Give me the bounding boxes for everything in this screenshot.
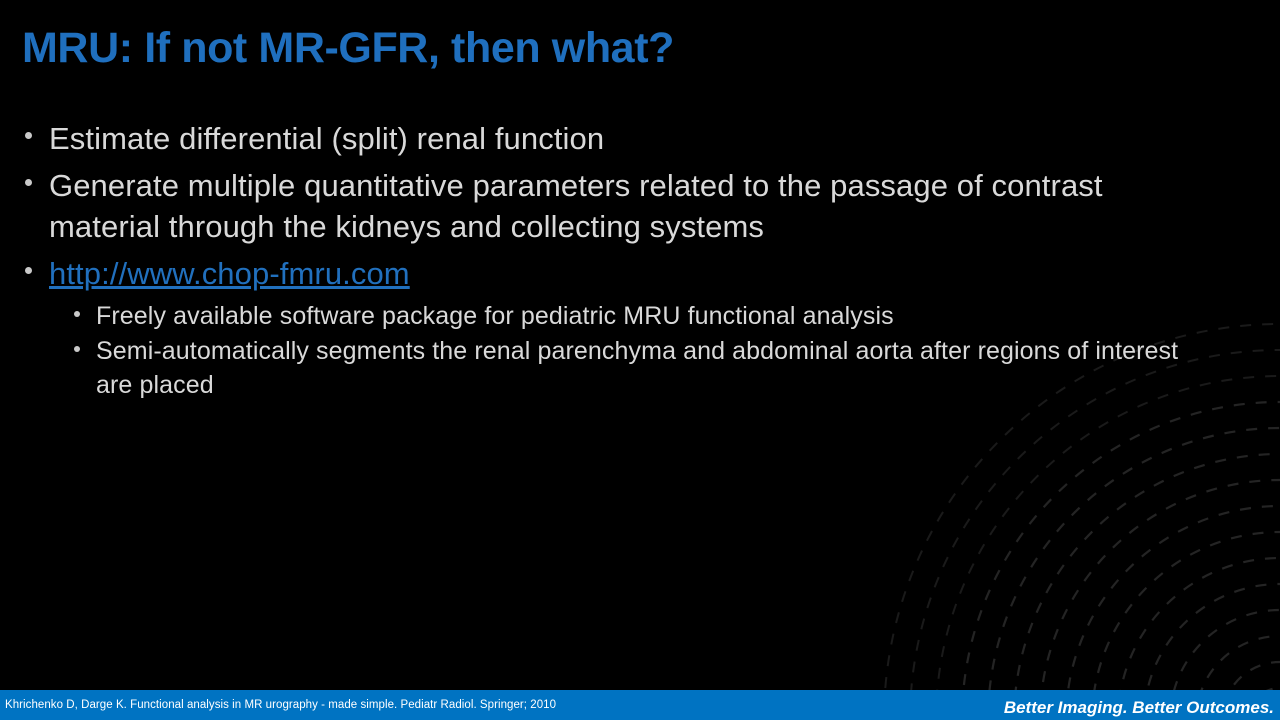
footer-bar: Khrichenko D, Darge K. Functional analys… <box>0 690 1280 720</box>
sub-bullet-list: Freely available software package for pe… <box>18 299 1218 402</box>
sub-bullet-text: Semi-automatically segments the renal pa… <box>96 337 1178 399</box>
bullet-dot-icon <box>25 132 32 139</box>
chop-fmru-link[interactable]: http://www.chop-fmru.com <box>49 256 410 291</box>
sub-bullet-item: Freely available software package for pe… <box>60 299 1218 333</box>
bullet-item: Generate multiple quantitative parameter… <box>18 165 1218 248</box>
footer-citation: Khrichenko D, Darge K. Functional analys… <box>0 699 556 711</box>
slide-title: MRU: If not MR-GFR, then what? <box>22 24 1202 72</box>
sub-bullet-item: Semi-automatically segments the renal pa… <box>60 334 1218 402</box>
slide-body: Estimate differential (split) renal func… <box>18 118 1218 403</box>
bullet-dot-icon <box>25 267 32 274</box>
presentation-slide: MRU: If not MR-GFR, then what? Estimate … <box>0 0 1280 720</box>
footer-tagline: Better Imaging. Better Outcomes. <box>1004 698 1280 718</box>
sub-bullet-text: Freely available software package for pe… <box>96 302 894 330</box>
bullet-dot-icon <box>25 179 32 186</box>
bullet-text: Estimate differential (split) renal func… <box>49 121 604 156</box>
bullet-dot-icon <box>74 346 80 352</box>
bullet-item-link: http://www.chop-fmru.com <box>18 253 1218 295</box>
bullet-dot-icon <box>74 311 80 317</box>
bullet-item: Estimate differential (split) renal func… <box>18 118 1218 160</box>
bullet-text: Generate multiple quantitative parameter… <box>49 168 1103 245</box>
